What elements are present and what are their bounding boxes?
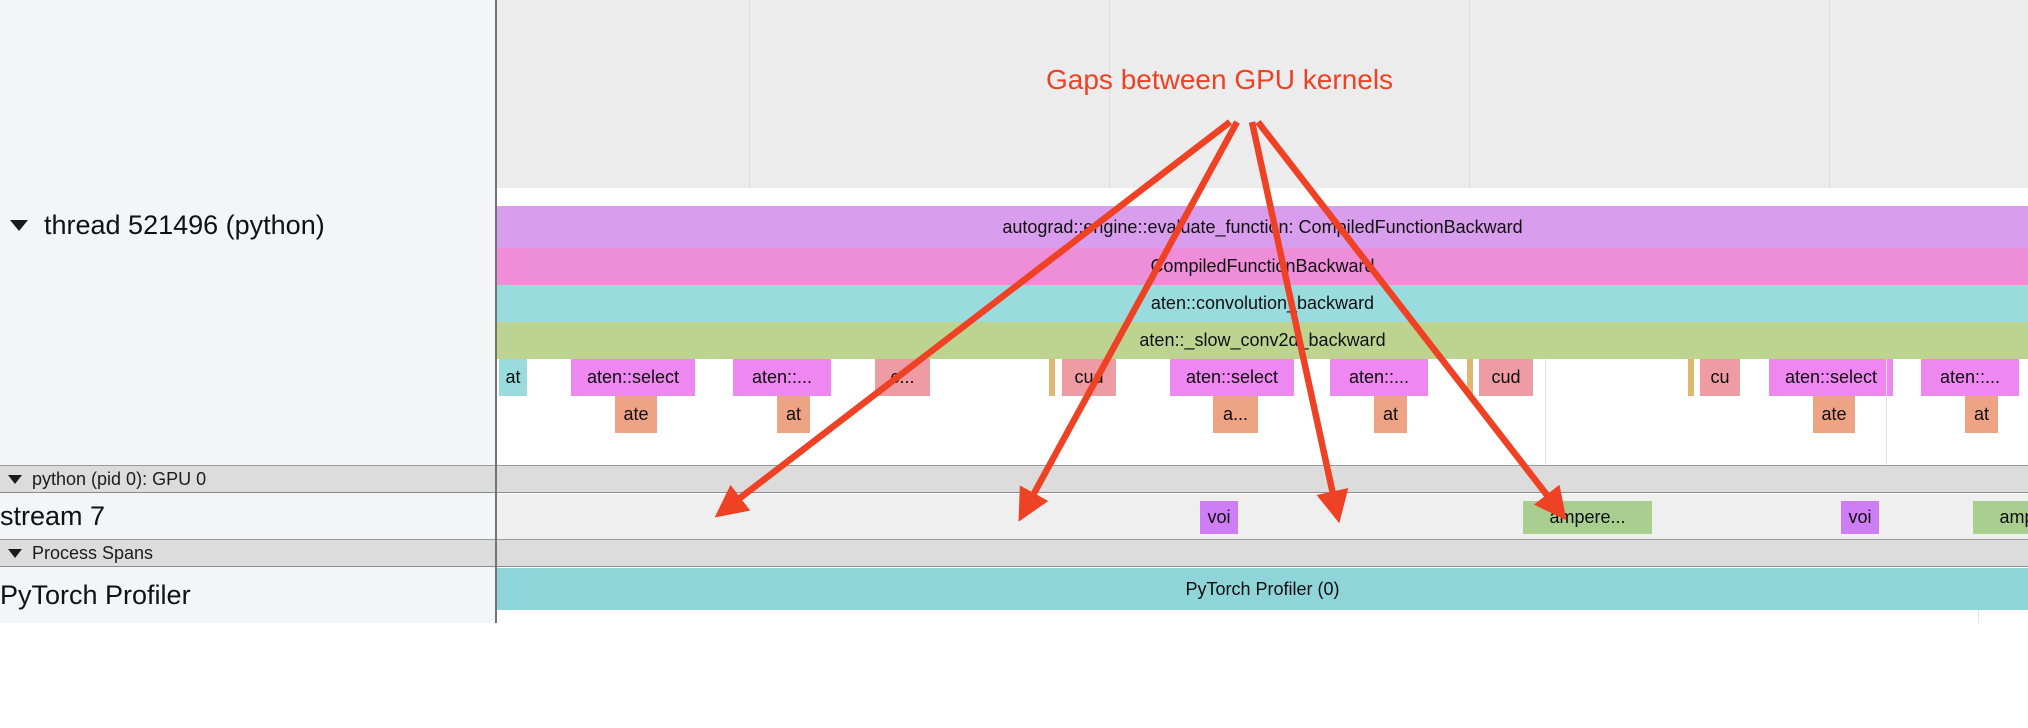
column-divider[interactable] bbox=[495, 0, 497, 623]
timeline-slice[interactable] bbox=[1688, 359, 1694, 396]
timeline-slice[interactable]: aten::select bbox=[571, 359, 695, 396]
timeline-slice[interactable]: a... bbox=[1213, 396, 1258, 433]
timeline-slice[interactable]: aten::... bbox=[733, 359, 831, 396]
process-span-slice-label: PyTorch Profiler (0) bbox=[1185, 579, 1339, 600]
gridline bbox=[1978, 610, 1979, 623]
timeline-slice[interactable] bbox=[1467, 359, 1473, 396]
empty-area bbox=[0, 623, 2028, 728]
timeline-slice-label: at bbox=[786, 404, 801, 425]
gpu-kernel-slice[interactable]: voi bbox=[1841, 501, 1879, 534]
process-span-slice[interactable]: PyTorch Profiler (0) bbox=[497, 568, 2028, 610]
group-header-process-spans[interactable]: Process Spans bbox=[0, 539, 2028, 567]
timeline-slice-label: at bbox=[505, 367, 520, 388]
flame-band[interactable]: aten::_slow_conv2d_backward bbox=[497, 322, 2028, 359]
timeline-slice[interactable]: aten::... bbox=[1921, 359, 2019, 396]
timeline-slice-label: a... bbox=[1223, 404, 1248, 425]
timeline-slice[interactable]: cud bbox=[1479, 359, 1533, 396]
gpu-kernel-slice[interactable]: ampere... bbox=[1523, 501, 1652, 534]
gpu-kernel-slice-label: ampere... bbox=[1549, 507, 1625, 528]
gridline bbox=[749, 0, 750, 188]
group-header-gpu[interactable]: python (pid 0): GPU 0 bbox=[0, 465, 2028, 493]
sidebar-item-thread[interactable]: thread 521496 (python) bbox=[0, 195, 495, 255]
stream-track-label: stream 7 bbox=[0, 501, 105, 532]
timeline-slice[interactable]: aten::select bbox=[1170, 359, 1294, 396]
gridline bbox=[1886, 359, 1887, 465]
timeline-slice-label: ate bbox=[623, 404, 648, 425]
timeline-slice[interactable]: at bbox=[1374, 396, 1407, 433]
chevron-down-icon[interactable] bbox=[10, 220, 28, 231]
gpu-kernel-slice-label: voi bbox=[1848, 507, 1871, 528]
group-header-gpu-label: python (pid 0): GPU 0 bbox=[32, 469, 206, 490]
timeline-slice[interactable]: at bbox=[777, 396, 810, 433]
group-header-process-spans-label: Process Spans bbox=[32, 543, 153, 564]
timeline-slice-label: cud bbox=[1074, 367, 1103, 388]
timeline-slice-label: ate bbox=[1821, 404, 1846, 425]
timeline-slice-label: aten::... bbox=[1940, 367, 2000, 388]
timeline-slice-label: at bbox=[1383, 404, 1398, 425]
chevron-down-icon[interactable] bbox=[8, 549, 22, 558]
timeline-slice-label: aten::select bbox=[1186, 367, 1278, 388]
timeline-slice[interactable]: at bbox=[1965, 396, 1998, 433]
flame-band-label: autograd::engine::evaluate_function: Com… bbox=[1002, 217, 1522, 238]
gpu-kernel-slice-label: voi bbox=[1207, 507, 1230, 528]
timeline-slice-label: c... bbox=[890, 367, 914, 388]
thread-track-label: thread 521496 (python) bbox=[44, 210, 325, 241]
timeline-slice[interactable]: ate bbox=[1813, 396, 1855, 433]
timeline-slice-label: at bbox=[1974, 404, 1989, 425]
flame-band-label: aten::convolution_backward bbox=[1151, 293, 1374, 314]
timeline-slice-label: aten::select bbox=[1785, 367, 1877, 388]
gpu-kernel-slice-label: ampere... bbox=[1999, 507, 2028, 528]
timeline-slice[interactable]: aten::select bbox=[1769, 359, 1893, 396]
timeline-slice[interactable]: at bbox=[499, 359, 527, 396]
timeline-slice[interactable]: cu bbox=[1700, 359, 1740, 396]
gpu-stream-track[interactable]: voiampere...voiampere...voi bbox=[497, 494, 2028, 539]
flame-band-label: CompiledFunctionBackward bbox=[1150, 256, 1374, 277]
timeline-slice-label: aten::... bbox=[752, 367, 812, 388]
gridline bbox=[1545, 359, 1546, 465]
timeline-slice[interactable]: ate bbox=[615, 396, 657, 433]
gridline bbox=[1469, 0, 1470, 188]
flame-band[interactable]: aten::convolution_backward bbox=[497, 285, 2028, 322]
chevron-down-icon[interactable] bbox=[8, 475, 22, 484]
annotation-label: Gaps between GPU kernels bbox=[1046, 64, 1393, 96]
trace-viewer: thread 521496 (python) autograd::engine:… bbox=[0, 0, 2028, 728]
flame-band[interactable]: autograd::engine::evaluate_function: Com… bbox=[497, 206, 2028, 248]
timeline-slice[interactable]: cud bbox=[1062, 359, 1116, 396]
timeline-slice[interactable]: aten::... bbox=[1330, 359, 1428, 396]
timeline-slice-label: cud bbox=[1491, 367, 1520, 388]
gpu-kernel-slice[interactable]: voi bbox=[1200, 501, 1238, 534]
timeline-slice-label: aten::select bbox=[587, 367, 679, 388]
timeline-slice-label: aten::... bbox=[1349, 367, 1409, 388]
flame-band[interactable]: CompiledFunctionBackward bbox=[497, 248, 2028, 285]
sidebar-item-process-span[interactable]: PyTorch Profiler bbox=[0, 568, 495, 623]
timeline-slice[interactable] bbox=[1049, 359, 1055, 396]
process-span-track-label: PyTorch Profiler bbox=[0, 580, 191, 611]
gpu-kernel-slice[interactable]: ampere... bbox=[1973, 501, 2028, 534]
sidebar-item-stream[interactable]: stream 7 bbox=[0, 494, 495, 539]
gridline bbox=[1829, 0, 1830, 188]
process-span-track[interactable]: PyTorch Profiler (0) bbox=[497, 568, 2028, 610]
timeline-slice-label: cu bbox=[1710, 367, 1729, 388]
timeline-slice[interactable]: c... bbox=[875, 359, 930, 396]
flame-band-label: aten::_slow_conv2d_backward bbox=[1139, 330, 1385, 351]
